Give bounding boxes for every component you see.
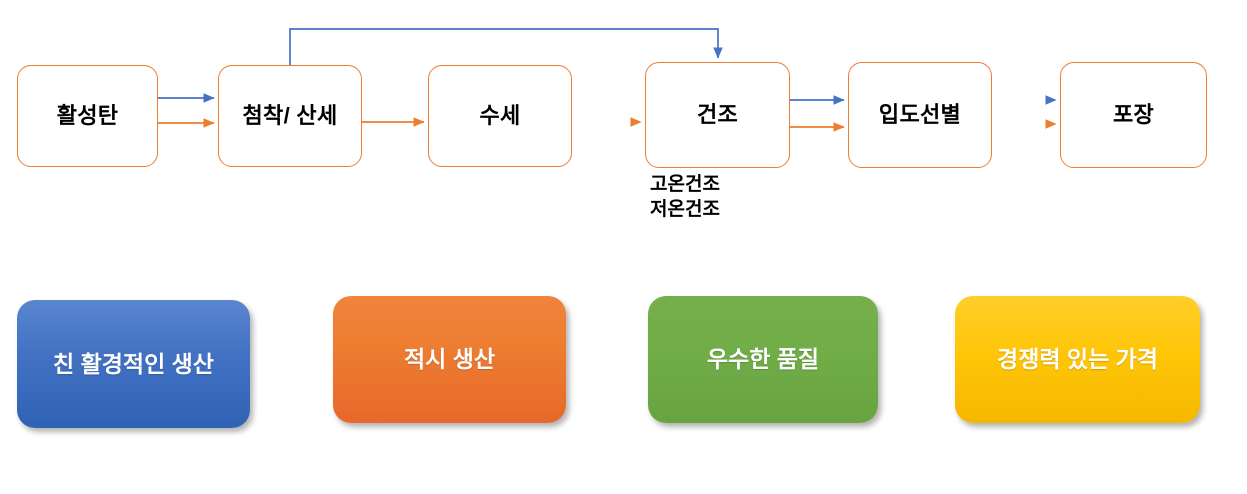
drying-methods-note: 고온건조 저온건조 [650, 172, 720, 222]
process-step-grain-sorting[interactable]: 입도선별 [848, 62, 992, 168]
drying-note-line-low-temp: 저온건조 [650, 197, 720, 222]
benefit-card-label: 경쟁력 있는 가격 [997, 348, 1158, 371]
diagram-canvas: 활성탄 첨착/ 산세 수세 건조 입도선별 포장 고온건조 저온건조 친 활경적… [0, 0, 1247, 494]
benefit-card-just-in-time-production[interactable]: 적시 생산 [333, 296, 566, 423]
process-step-label: 입도선별 [879, 104, 961, 126]
process-step-washing[interactable]: 수세 [428, 65, 572, 167]
connector-step2-step4-blue-bypass [290, 29, 718, 65]
benefit-card-competitive-price[interactable]: 경쟁력 있는 가격 [955, 296, 1200, 423]
benefit-card-label: 우수한 품질 [707, 348, 819, 371]
process-step-impregnation-pickling[interactable]: 첨착/ 산세 [218, 65, 362, 167]
benefit-card-label: 친 활경적인 생산 [53, 353, 214, 376]
benefit-card-excellent-quality[interactable]: 우수한 품질 [648, 296, 878, 423]
process-step-activated-carbon[interactable]: 활성탄 [17, 65, 158, 167]
process-step-label: 포장 [1113, 104, 1154, 126]
process-step-drying[interactable]: 건조 [645, 62, 790, 168]
process-step-packaging[interactable]: 포장 [1060, 62, 1207, 168]
process-step-label: 건조 [697, 104, 738, 126]
benefit-card-label: 적시 생산 [404, 348, 495, 371]
process-step-label: 수세 [479, 105, 520, 127]
process-step-label: 활성탄 [57, 105, 119, 127]
benefit-card-eco-friendly-production[interactable]: 친 활경적인 생산 [17, 300, 250, 428]
process-step-label: 첨착/ 산세 [243, 105, 338, 127]
drying-note-line-high-temp: 고온건조 [650, 172, 720, 197]
